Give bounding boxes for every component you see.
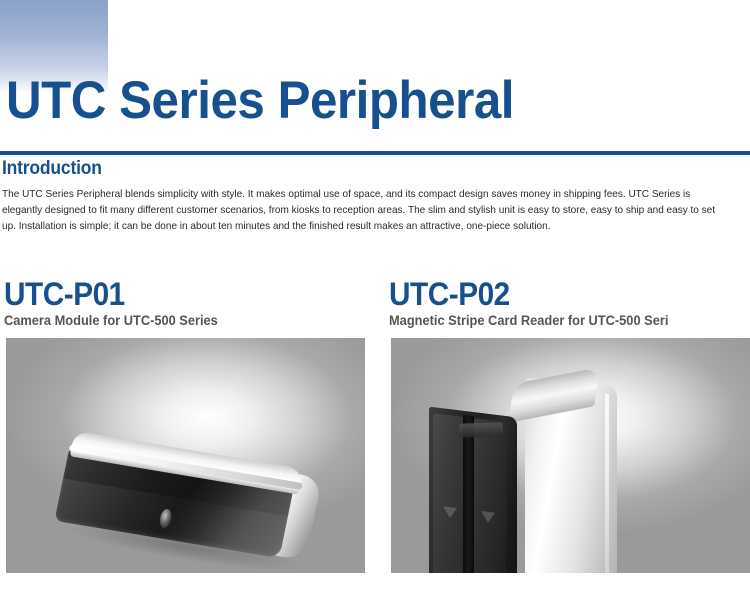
title-divider-rule [0, 151, 750, 155]
product-card-utc-p01: UTC-P01 Camera Module for UTC-500 Series [0, 278, 365, 573]
card-reader-slot-gap [463, 415, 474, 573]
card-reader-rail-right [474, 419, 506, 574]
product-name-utc-p01: UTC-P01 [4, 278, 340, 312]
card-reader-illustration [391, 338, 750, 573]
introduction-heading: Introduction [2, 158, 690, 180]
introduction-body-text: The UTC Series Peripheral blends simplic… [2, 186, 716, 234]
introduction-section: Introduction The UTC Series Peripheral b… [0, 158, 750, 234]
card-reader-swipe-slot [429, 407, 517, 573]
product-subtitle-utc-p02: Magnetic Stripe Card Reader for UTC-500 … [389, 314, 732, 329]
card-reader-top-notch [459, 423, 503, 439]
camera-lens-icon [158, 509, 173, 529]
swipe-direction-arrow-icon-secondary [481, 511, 495, 524]
page-title: UTC Series Peripheral [6, 74, 514, 127]
product-card-utc-p02: UTC-P02 Magnetic Stripe Card Reader for … [385, 278, 750, 573]
product-photo-utc-p01 [6, 338, 365, 573]
datasheet-page: UTC Series Peripheral Introduction The U… [0, 0, 750, 591]
swipe-direction-arrow-icon [443, 507, 457, 520]
card-reader-rail-left [433, 414, 463, 574]
card-reader-edge-highlight [605, 394, 609, 573]
product-name-utc-p02: UTC-P02 [389, 278, 725, 312]
product-subtitle-utc-p01: Camera Module for UTC-500 Series [4, 314, 347, 329]
product-photo-utc-p02 [391, 338, 750, 573]
page-header: UTC Series Peripheral [0, 0, 750, 155]
camera-module-illustration [6, 338, 365, 573]
product-grid: UTC-P01 Camera Module for UTC-500 Series [0, 278, 750, 573]
